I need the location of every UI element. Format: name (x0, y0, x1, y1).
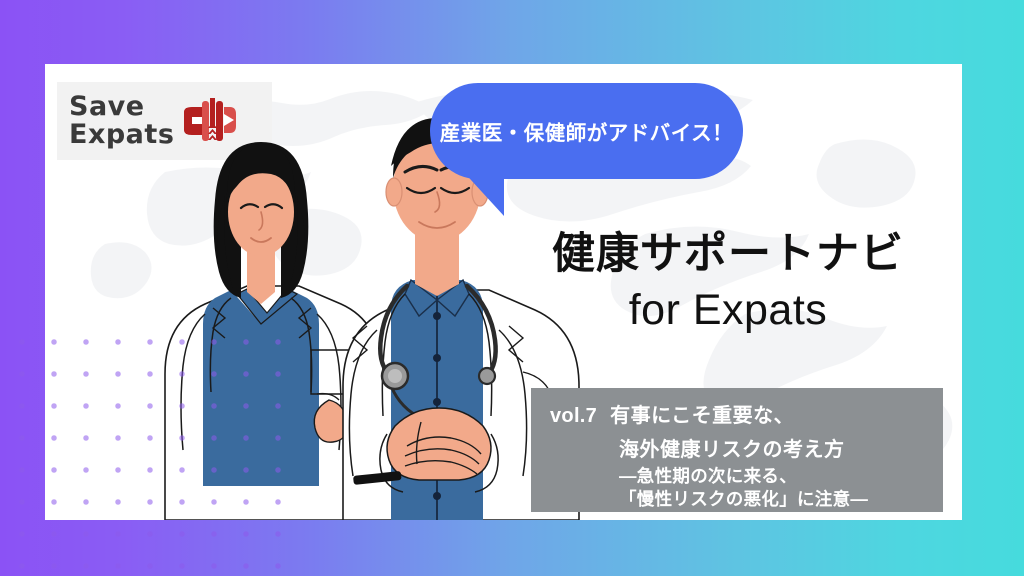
volume-title-row: vol.7 有事にこそ重要な、 (531, 399, 943, 428)
volume-title-line-2: 海外健康リスクの考え方 (531, 433, 943, 462)
volume-panel: vol.7 有事にこそ重要な、 海外健康リスクの考え方 ―急性期の次に来る、 「… (531, 388, 943, 512)
speech-bubble-text: 産業医・保健師がアドバイス！ (440, 116, 733, 146)
speech-bubble: 産業医・保健師がアドバイス！ (430, 83, 743, 179)
volume-label: vol.7 (550, 405, 597, 428)
volume-title-line-1: 有事にこそ重要な、 (610, 399, 794, 428)
headline: 健康サポートナビ for Expats (528, 228, 928, 338)
volume-subtitle: ―急性期の次に来る、 「慢性リスクの悪化」に注意― (531, 465, 943, 511)
headline-line-1: 健康サポートナビ (528, 228, 928, 280)
headline-line-2: for Expats (528, 284, 928, 338)
